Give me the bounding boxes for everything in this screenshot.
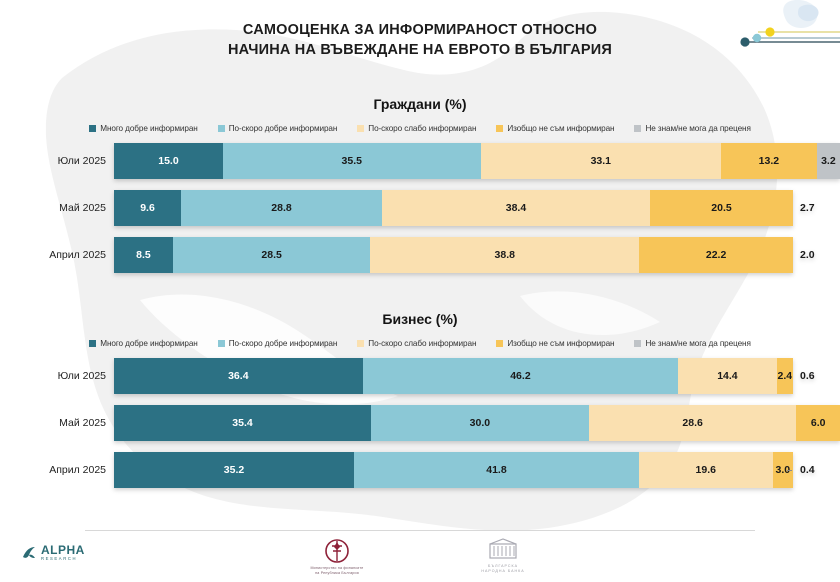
bar-segment-2[interactable]: 46.2 <box>363 358 679 394</box>
bar-segment-value: 20.5 <box>711 202 731 214</box>
bar-segment-3[interactable]: 38.4 <box>382 190 650 226</box>
legend-item-label: По-скоро слабо информиран <box>368 124 476 133</box>
bar-segment-value: 35.5 <box>342 155 362 167</box>
bar-segment-5[interactable]: 0.4 <box>793 452 840 488</box>
bar-segment-3[interactable]: 14.4 <box>678 358 776 394</box>
legend-citizens: Много добре информиранПо-скоро добре инф… <box>0 124 840 133</box>
legend-item-4[interactable]: Изобщо не съм информиран <box>496 339 614 348</box>
bar-segment-value: 6.0 <box>811 417 826 429</box>
bar-segment-1[interactable]: 8.5 <box>114 237 173 273</box>
bar-segment-2[interactable]: 28.5 <box>173 237 370 273</box>
stacked-bar: 15.035.533.113.23.2 <box>114 143 840 179</box>
ministry-emblem-icon <box>324 538 350 564</box>
bar-segment-3[interactable]: 38.8 <box>370 237 639 273</box>
stacked-bar: 8.528.538.822.22.0 <box>114 237 840 273</box>
legend-business: Много добре информиранПо-скоро добре инф… <box>0 339 840 348</box>
bar-segment-value: 22.2 <box>706 249 726 261</box>
ministry-caption-line-2: на Република България <box>310 571 363 576</box>
bar-segment-value: 30.0 <box>470 417 490 429</box>
bar-segment-value: 3.2 <box>821 155 836 167</box>
legend-swatch-icon <box>634 340 641 347</box>
ministry-caption: Министерство на финансите на Република Б… <box>310 566 363 576</box>
bar-segment-3[interactable]: 33.1 <box>481 143 721 179</box>
chart-panel-business: Бизнес (%) Много добре информиранПо-скор… <box>0 311 840 488</box>
bar-segment-value: 36.4 <box>228 370 248 382</box>
bar-segment-2[interactable]: 35.5 <box>223 143 481 179</box>
bar-row: Май 202535.430.028.66.0 <box>0 405 840 441</box>
bar-segment-value: 2.0 <box>800 249 815 261</box>
bar-segment-5[interactable]: 0.6 <box>793 358 840 394</box>
legend-item-4[interactable]: Изобщо не съм информиран <box>496 124 614 133</box>
bar-segment-3[interactable]: 19.6 <box>639 452 773 488</box>
bar-segment-5[interactable]: 3.2 <box>817 143 840 179</box>
bnb-emblem-icon <box>488 538 518 562</box>
bar-segment-4[interactable]: 2.4 <box>777 358 793 394</box>
bar-segment-value: 2.4 <box>777 370 792 382</box>
bar-segment-1[interactable]: 9.6 <box>114 190 181 226</box>
bar-segment-value: 0.4 <box>800 464 815 476</box>
legend-swatch-icon <box>357 340 364 347</box>
legend-swatch-icon <box>496 340 503 347</box>
legend-item-label: По-скоро добре информиран <box>229 339 338 348</box>
bar-segment-4[interactable]: 22.2 <box>639 237 793 273</box>
bar-segment-value: 38.8 <box>495 249 515 261</box>
bar-row: Юли 202515.035.533.113.23.2 <box>0 143 840 179</box>
panel-title-business: Бизнес (%) <box>0 311 840 327</box>
legend-swatch-icon <box>218 125 225 132</box>
legend-item-label: Много добре информиран <box>100 124 198 133</box>
bar-segment-value: 19.6 <box>696 464 716 476</box>
bar-segment-1[interactable]: 36.4 <box>114 358 363 394</box>
bar-segment-5[interactable]: 2.0 <box>793 237 840 273</box>
legend-item-3[interactable]: По-скоро слабо информиран <box>357 124 476 133</box>
bar-segment-value: 8.5 <box>136 249 151 261</box>
legend-swatch-icon <box>357 125 364 132</box>
bar-segment-4[interactable]: 6.0 <box>796 405 840 441</box>
page-title: САМООЦЕНКА ЗА ИНФОРМИРАНОСТ ОТНОСНО НАЧИ… <box>0 20 840 60</box>
bar-segment-4[interactable]: 20.5 <box>650 190 793 226</box>
bar-segment-2[interactable]: 28.8 <box>181 190 382 226</box>
bar-segment-value: 28.5 <box>261 249 281 261</box>
bar-row-label: Май 2025 <box>0 202 114 214</box>
bar-row: Април 20258.528.538.822.22.0 <box>0 237 840 273</box>
bar-segment-5[interactable]: 2.7 <box>793 190 840 226</box>
legend-item-label: Не знам/не мога да преценя <box>645 124 750 133</box>
legend-item-label: По-скоро добре информиран <box>229 124 338 133</box>
bulgarian-national-bank-logo: БЪЛГАРСКА НАРОДНА БАНКА <box>443 538 563 574</box>
bar-segment-value: 2.7 <box>800 202 815 214</box>
bar-segment-1[interactable]: 15.0 <box>114 143 223 179</box>
legend-swatch-icon <box>634 125 641 132</box>
bar-row-label: Май 2025 <box>0 417 114 429</box>
bulgaria-map-watermark <box>0 0 840 582</box>
bar-row-label: Юли 2025 <box>0 370 114 382</box>
bar-segment-value: 33.1 <box>591 155 611 167</box>
bar-segment-2[interactable]: 30.0 <box>371 405 589 441</box>
page-title-line-1: САМООЦЕНКА ЗА ИНФОРМИРАНОСТ ОТНОСНО <box>0 20 840 40</box>
stacked-bar: 35.430.028.66.0 <box>114 405 840 441</box>
legend-swatch-icon <box>496 125 503 132</box>
government-logos: Министерство на финансите на Република Б… <box>0 538 840 576</box>
bar-segment-value: 38.4 <box>506 202 526 214</box>
legend-item-label: По-скоро слабо информиран <box>368 339 476 348</box>
bar-row: Април 202535.241.819.63.00.4 <box>0 452 840 488</box>
bnb-caption-line-2: НАРОДНА БАНКА <box>481 569 524 574</box>
page-footer: ALPHA RESEARCH Министерство на финансите… <box>0 530 840 582</box>
legend-item-5[interactable]: Не знам/не мога да преценя <box>634 339 750 348</box>
legend-item-label: Много добре информиран <box>100 339 198 348</box>
chart-panel-citizens: Граждани (%) Много добре информиранПо-ск… <box>0 96 840 273</box>
leader-tick <box>787 470 792 471</box>
legend-item-1[interactable]: Много добре информиран <box>89 124 198 133</box>
legend-swatch-icon <box>89 125 96 132</box>
legend-swatch-icon <box>89 340 96 347</box>
legend-item-1[interactable]: Много добре информиран <box>89 339 198 348</box>
panel-title-citizens: Граждани (%) <box>0 96 840 112</box>
bar-segment-2[interactable]: 41.8 <box>354 452 639 488</box>
bnb-caption: БЪЛГАРСКА НАРОДНА БАНКА <box>481 564 524 574</box>
bar-segment-value: 13.2 <box>759 155 779 167</box>
bar-segment-value: 15.0 <box>158 155 178 167</box>
bar-segment-4[interactable]: 13.2 <box>721 143 817 179</box>
bar-row-label: Април 2025 <box>0 249 114 261</box>
bar-segment-value: 35.4 <box>232 417 252 429</box>
legend-item-label: Изобщо не съм информиран <box>507 339 614 348</box>
bar-segment-value: 9.6 <box>140 202 155 214</box>
bar-row-label: Април 2025 <box>0 464 114 476</box>
bar-segment-value: 46.2 <box>510 370 530 382</box>
stacked-bar: 35.241.819.63.00.4 <box>114 452 840 488</box>
page-title-line-2: НАЧИНА НА ВЪВЕЖДАНЕ НА ЕВРОТО В БЪЛГАРИЯ <box>0 40 840 60</box>
legend-item-label: Не знам/не мога да преценя <box>645 339 750 348</box>
legend-item-5[interactable]: Не знам/не мога да преценя <box>634 124 750 133</box>
legend-item-2[interactable]: По-скоро добре информиран <box>218 124 338 133</box>
legend-item-3[interactable]: По-скоро слабо информиран <box>357 339 476 348</box>
bar-row: Май 20259.628.838.420.52.7 <box>0 190 840 226</box>
bar-segment-3[interactable]: 28.6 <box>589 405 797 441</box>
bar-row: Юли 202536.446.214.42.40.6 <box>0 358 840 394</box>
footer-divider <box>85 530 755 531</box>
ministry-of-finance-logo: Министерство на финансите на Република Б… <box>277 538 397 576</box>
legend-item-label: Изобщо не съм информиран <box>507 124 614 133</box>
bar-segment-1[interactable]: 35.4 <box>114 405 371 441</box>
bar-segment-1[interactable]: 35.2 <box>114 452 354 488</box>
bar-row-label: Юли 2025 <box>0 155 114 167</box>
bar-rows-citizens: Юли 202515.035.533.113.23.2Май 20259.628… <box>0 143 840 273</box>
bar-segment-value: 14.4 <box>717 370 737 382</box>
bar-segment-value: 0.6 <box>800 370 815 382</box>
bar-segment-value: 35.2 <box>224 464 244 476</box>
legend-item-2[interactable]: По-скоро добре информиран <box>218 339 338 348</box>
legend-swatch-icon <box>218 340 225 347</box>
bar-segment-value: 41.8 <box>486 464 506 476</box>
stacked-bar: 9.628.838.420.52.7 <box>114 190 840 226</box>
bar-segment-value: 28.6 <box>682 417 702 429</box>
bar-rows-business: Юли 202536.446.214.42.40.6Май 202535.430… <box>0 358 840 488</box>
bar-segment-value: 28.8 <box>271 202 291 214</box>
stacked-bar: 36.446.214.42.40.6 <box>114 358 840 394</box>
